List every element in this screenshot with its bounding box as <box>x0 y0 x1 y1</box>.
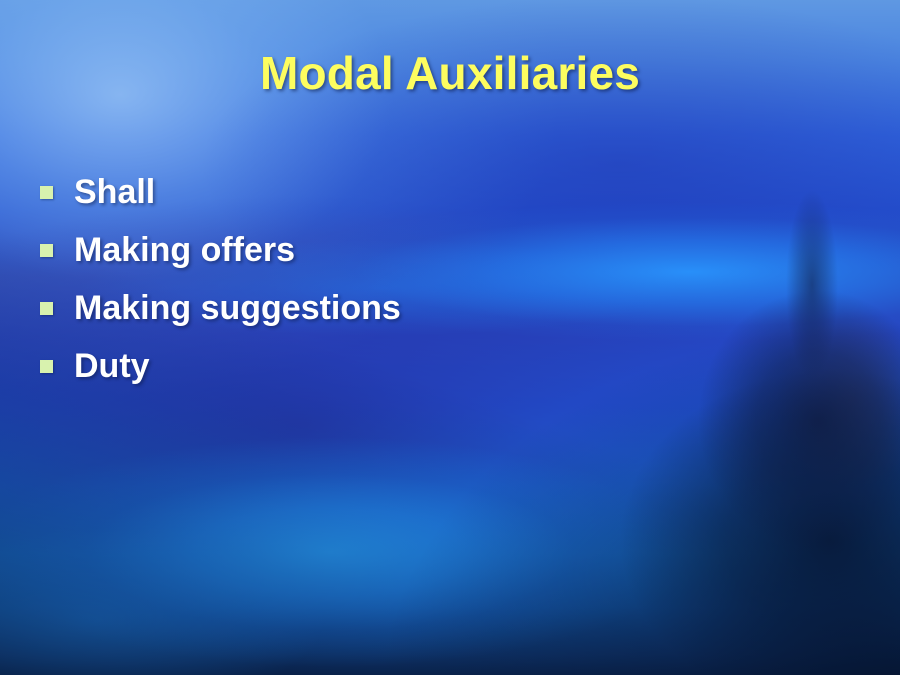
bullet-label: Making offers <box>74 233 295 267</box>
square-bullet-icon <box>40 244 53 257</box>
list-item: Duty <box>40 337 760 395</box>
list-item: Shall <box>40 163 760 221</box>
square-bullet-icon <box>40 186 53 199</box>
slide-title: Modal Auxiliaries <box>0 46 900 100</box>
bullet-list: Shall Making offers Making suggestions D… <box>40 163 760 395</box>
presentation-slide: Modal Auxiliaries Shall Making offers Ma… <box>0 0 900 675</box>
bullet-label: Shall <box>74 175 155 209</box>
slide-content: Modal Auxiliaries Shall Making offers Ma… <box>0 0 900 675</box>
list-item: Making suggestions <box>40 279 760 337</box>
bullet-label: Duty <box>74 349 150 383</box>
list-item: Making offers <box>40 221 760 279</box>
square-bullet-icon <box>40 360 53 373</box>
bullet-label: Making suggestions <box>74 291 401 325</box>
square-bullet-icon <box>40 302 53 315</box>
